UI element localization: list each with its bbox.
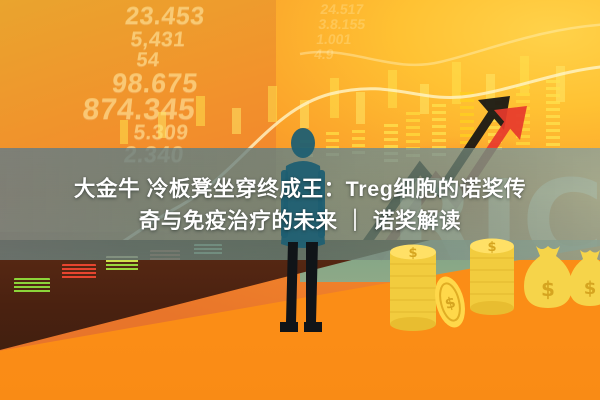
headline-line-1: 大金牛 冷板凳坐穿终成王：Treg细胞的诺奖传 [74,175,526,203]
coin-single: $ [430,273,470,330]
cover-banner: 23.453 5,431 54 98.675 874.345 5.309 2.3… [0,0,600,400]
svg-text:$: $ [541,277,555,301]
headline-line-2: 奇与免疫治疗的未来 ｜ 诺奖解读 [139,207,462,235]
svg-text:$: $ [584,278,597,299]
headline: 大金牛 冷板凳坐穿终成王：Treg细胞的诺奖传 奇与免疫治疗的未来 ｜ 诺奖解读 [0,150,600,260]
color-chip [14,278,50,300]
color-chip [62,264,96,286]
